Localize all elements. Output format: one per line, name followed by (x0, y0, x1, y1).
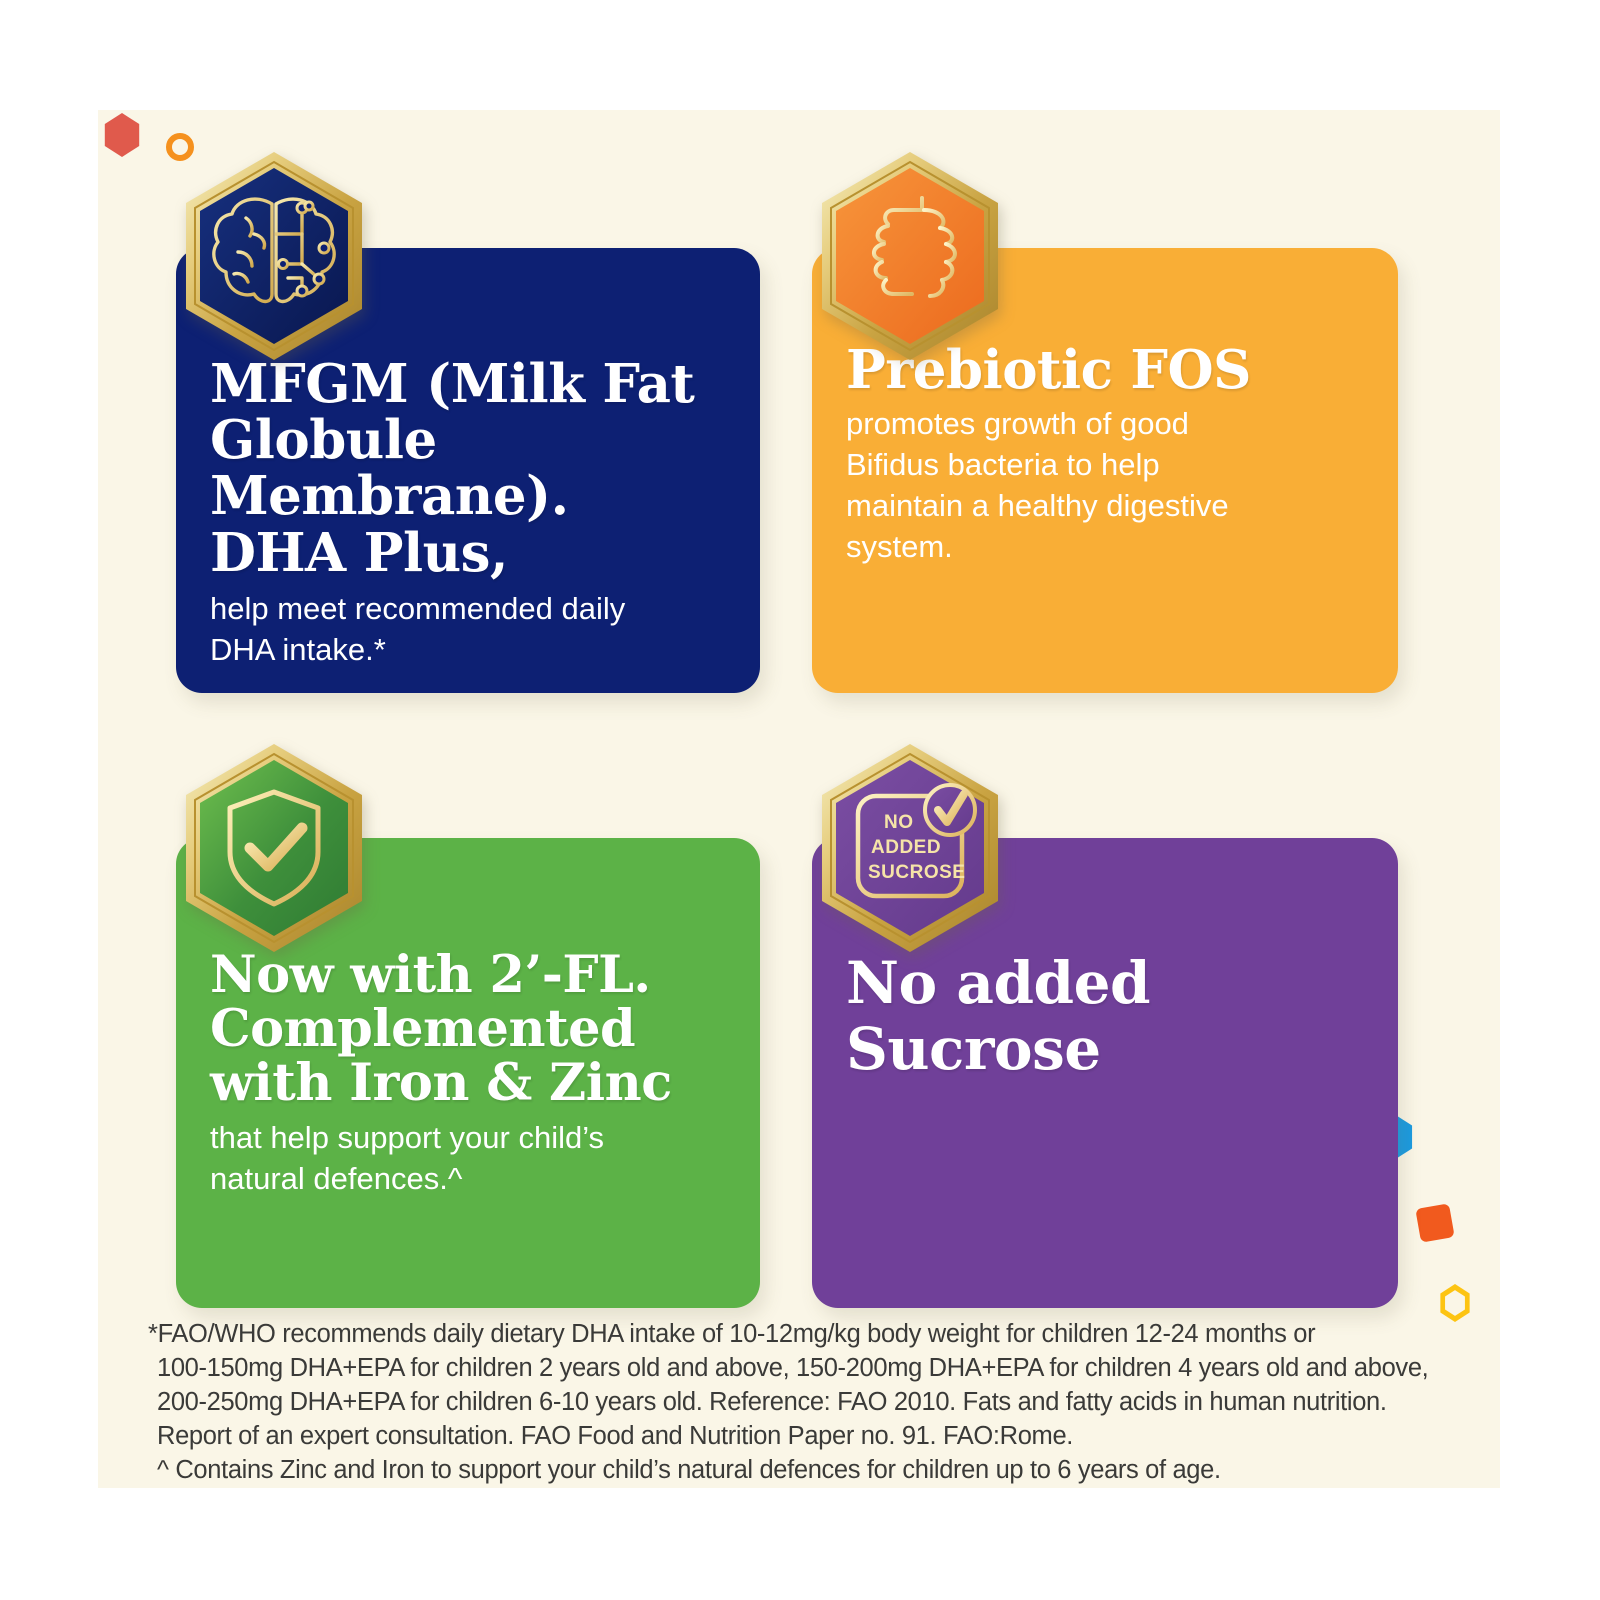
headline-line: No added (846, 949, 1150, 1017)
footnote-line: 200-250mg DHA+EPA for children 6-10 year… (148, 1386, 1448, 1420)
card-body: No added Sucrose (846, 950, 1368, 1086)
card-subline: promotes growth of good Bifidus bacteria… (846, 404, 1368, 568)
headline-line: Globule Membrane). (210, 409, 569, 527)
subline-line: help meet recommended daily (210, 591, 625, 626)
subline-line: Bifidus bacteria to help (846, 447, 1160, 482)
footnote-line: 100-150mg DHA+EPA for children 2 years o… (148, 1352, 1448, 1386)
subline-line: maintain a healthy digestive (846, 488, 1229, 523)
headline-line: with Iron & Zinc (210, 1053, 672, 1113)
subline-line: that help support your child’s (210, 1120, 604, 1155)
badge-text-no: NO (884, 812, 914, 833)
badge-shield-check (176, 740, 372, 956)
infographic-stage: MFGM (Milk Fat Globule Membrane). DHA Pl… (0, 0, 1600, 1600)
card-subline: help meet recommended daily DHA intake.* (210, 589, 730, 671)
badge-intestine (812, 148, 1008, 364)
subline-line: DHA intake.* (210, 632, 386, 667)
badge-text-added: ADDED (871, 837, 941, 858)
footnote-line: *FAO/WHO recommends daily dietary DHA in… (148, 1318, 1448, 1352)
card-body: Prebiotic FOS promotes growth of good Bi… (846, 342, 1368, 568)
subline-line: natural defences.^ (210, 1161, 462, 1196)
subline-line: promotes growth of good (846, 406, 1189, 441)
headline-line: Complemented (210, 999, 635, 1059)
card-body: MFGM (Milk Fat Globule Membrane). DHA Pl… (210, 356, 730, 671)
footnote-line: Report of an expert consultation. FAO Fo… (148, 1420, 1448, 1454)
orange-square-icon (1415, 1203, 1454, 1242)
subline-line: system. (846, 529, 953, 564)
footnote-line: ^ Contains Zinc and Iron to support your… (148, 1454, 1448, 1488)
headline-line: Sucrose (846, 1015, 1101, 1083)
badge-no-added-sucrose: NO ADDED SUCROSE (812, 740, 1008, 956)
headline-line: DHA Plus, (210, 522, 508, 584)
card-subline: that help support your child’s natural d… (210, 1118, 730, 1200)
footnote-block: *FAO/WHO recommends daily dietary DHA in… (148, 1318, 1448, 1488)
card-headline: No added Sucrose (846, 950, 1368, 1082)
card-body: Now with 2’-FL. Complemented with Iron &… (210, 948, 730, 1200)
card-headline: MFGM (Milk Fat Globule Membrane). DHA Pl… (210, 356, 730, 581)
badge-brain-circuit (176, 148, 372, 364)
badge-text-sucrose: SUCROSE (868, 862, 965, 883)
card-headline: Now with 2’-FL. Complemented with Iron &… (210, 948, 730, 1110)
